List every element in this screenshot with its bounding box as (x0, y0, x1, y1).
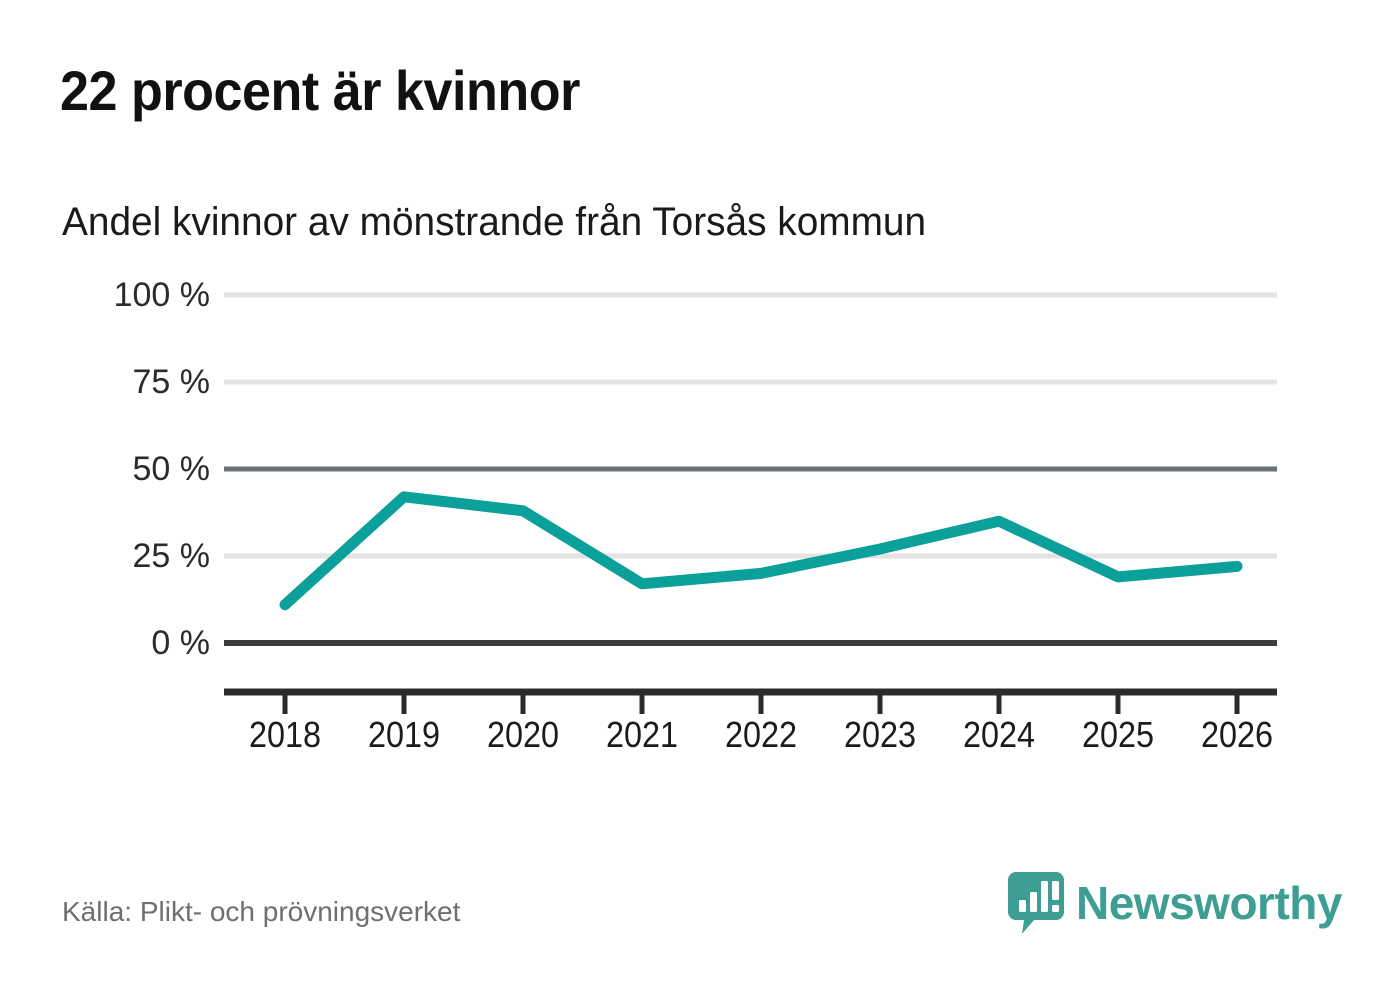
y-tick-label-50: 50 % (70, 450, 210, 489)
x-tick-label-2025: 2025 (1082, 714, 1154, 756)
x-axis (224, 692, 1277, 714)
y-tick-label-100: 100 % (70, 276, 210, 315)
x-tick-label-2020: 2020 (487, 714, 559, 756)
newsworthy-logo[interactable]: Newsworthy (1008, 872, 1342, 934)
gridlines (224, 295, 1277, 643)
source-note: Källa: Plikt- och prövningsverket (62, 896, 460, 928)
x-tick-label-2019: 2019 (368, 714, 440, 756)
x-tick-label-2024: 2024 (963, 714, 1035, 756)
y-axis-labels: 100 % 75 % 50 % 25 % 0 % (70, 0, 210, 999)
y-tick-label-0: 0 % (70, 624, 210, 663)
speech-bubble-barchart-icon (1008, 872, 1064, 934)
x-tick-label-2022: 2022 (725, 714, 797, 756)
x-tick-label-2023: 2023 (844, 714, 916, 756)
data-series-line (285, 497, 1237, 605)
x-tick-label-2018: 2018 (249, 714, 321, 756)
y-tick-label-75: 75 % (70, 363, 210, 402)
chart-card: 22 procent är kvinnor Andel kvinnor av m… (0, 0, 1382, 999)
y-tick-label-25: 25 % (70, 537, 210, 576)
x-axis-labels: 2018 2019 2020 2021 2022 2023 2024 2025 … (0, 714, 1382, 774)
logo-wordmark: Newsworthy (1076, 880, 1342, 926)
x-tick-label-2026: 2026 (1201, 714, 1273, 756)
x-tick-label-2021: 2021 (606, 714, 678, 756)
